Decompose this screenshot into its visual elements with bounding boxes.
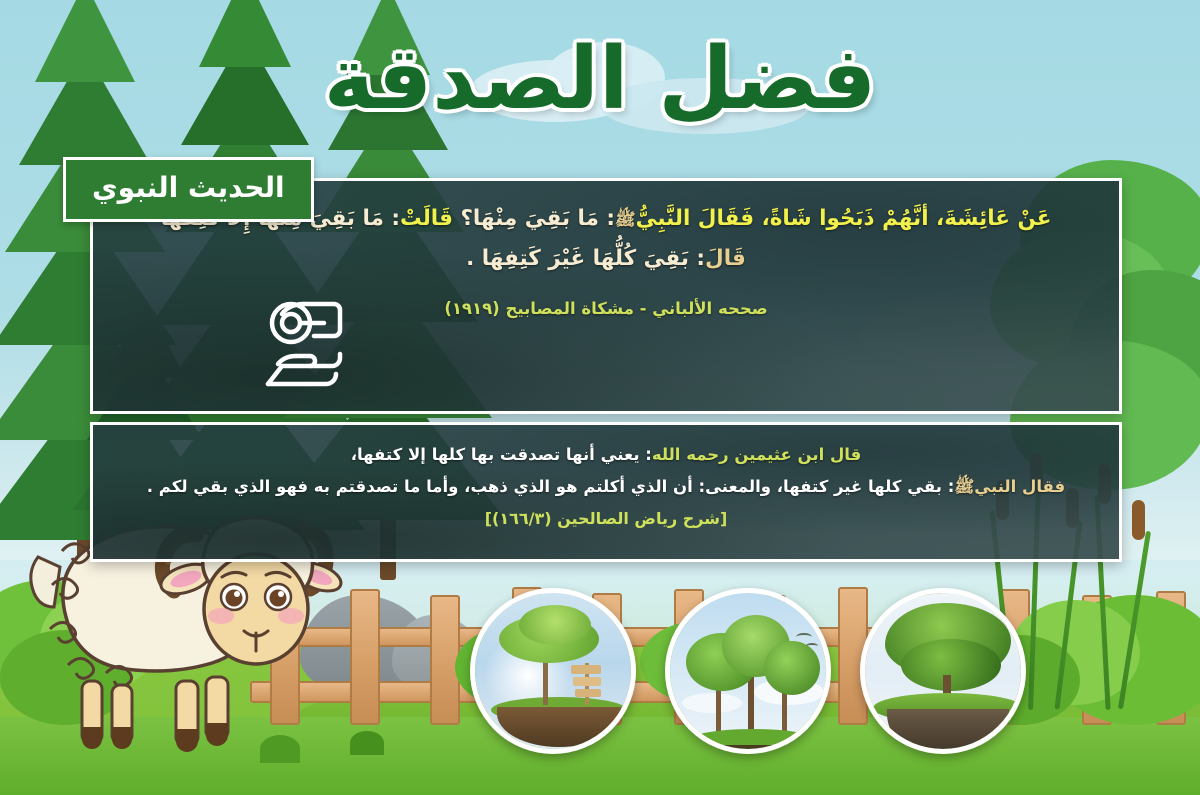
hadith-line1-part-b: : مَا بَقِيَ مِنْهَا؟: [460, 206, 615, 231]
grass-tuft: [260, 735, 300, 763]
hadith-line1-part-c: قَالَتْ: [400, 206, 453, 231]
hadith-line2-part-a: قَالَ: [705, 246, 746, 271]
rock: [392, 615, 482, 695]
explanation-line-2: فقال النبيﷺ: بقي كلها غير كتفها، والمعنى…: [127, 471, 1085, 503]
fence-plank: [350, 589, 380, 725]
salla-icon: ﷺ: [954, 477, 974, 496]
infographic-canvas: فضل الصدقة الحديث النبوي عَنْ عَائِشَةَ،…: [0, 0, 1200, 795]
bush: [1010, 600, 1140, 705]
fence-plank: [270, 593, 300, 725]
cattail-head: [1132, 500, 1145, 540]
bush: [40, 590, 160, 690]
photo-circle-sapling[interactable]: [470, 588, 636, 754]
explanation-line2-part-b: : بقي كلها غير كتفها، والمعنى: أن الذي أ…: [147, 477, 955, 496]
explanation-panel: قال ابن عثيمين رحمه الله: يعني أنها تصدق…: [90, 422, 1122, 562]
fence-plank: [1082, 595, 1112, 725]
explanation-line1-part-b: : يعني أنها تصدقت بها كلها إلا كتفها،: [351, 445, 652, 464]
explanation-line2-part-a: فقال النبي: [974, 477, 1065, 496]
photo-circle-bigtree[interactable]: [860, 588, 1026, 754]
hadith-line2-part-b: : بَقِيَ كُلُّهَا غَيْرَ كَتِفِهَا .: [466, 246, 705, 271]
badge-label: الحديث النبوي: [92, 171, 285, 204]
explanation-line1-part-a: قال ابن عثيمين رحمه الله: [652, 445, 861, 464]
rock: [300, 595, 430, 700]
hadith-line1-part-a: عَنْ عَائِشَةَ، أنَّهُمْ ذَبَحُوا شَاةً،…: [636, 206, 1052, 231]
hadith-line-2: قَالَ: بَقِيَ كُلُّهَا غَيْرَ كَتِفِهَا …: [127, 239, 1085, 279]
bush: [0, 580, 120, 700]
grass-hill: [0, 615, 340, 735]
photo-circle-grove[interactable]: [665, 588, 831, 754]
explanation-line-1: قال ابن عثيمين رحمه الله: يعني أنها تصدق…: [127, 439, 1085, 471]
grass-tuft: [350, 731, 384, 755]
bush: [1050, 595, 1200, 725]
explanation-reference: [شرح رياض الصالحين (١٦٦/٣)]: [127, 509, 1085, 528]
bush: [0, 630, 130, 725]
salla-icon: ﷺ: [615, 210, 636, 230]
section-badge-hadith: الحديث النبوي: [63, 157, 314, 222]
page-title: فضل الصدقة: [0, 34, 1200, 124]
fence-plank: [430, 595, 460, 725]
charity-hands-icon: [258, 296, 362, 392]
fence-plank: [1156, 591, 1186, 725]
